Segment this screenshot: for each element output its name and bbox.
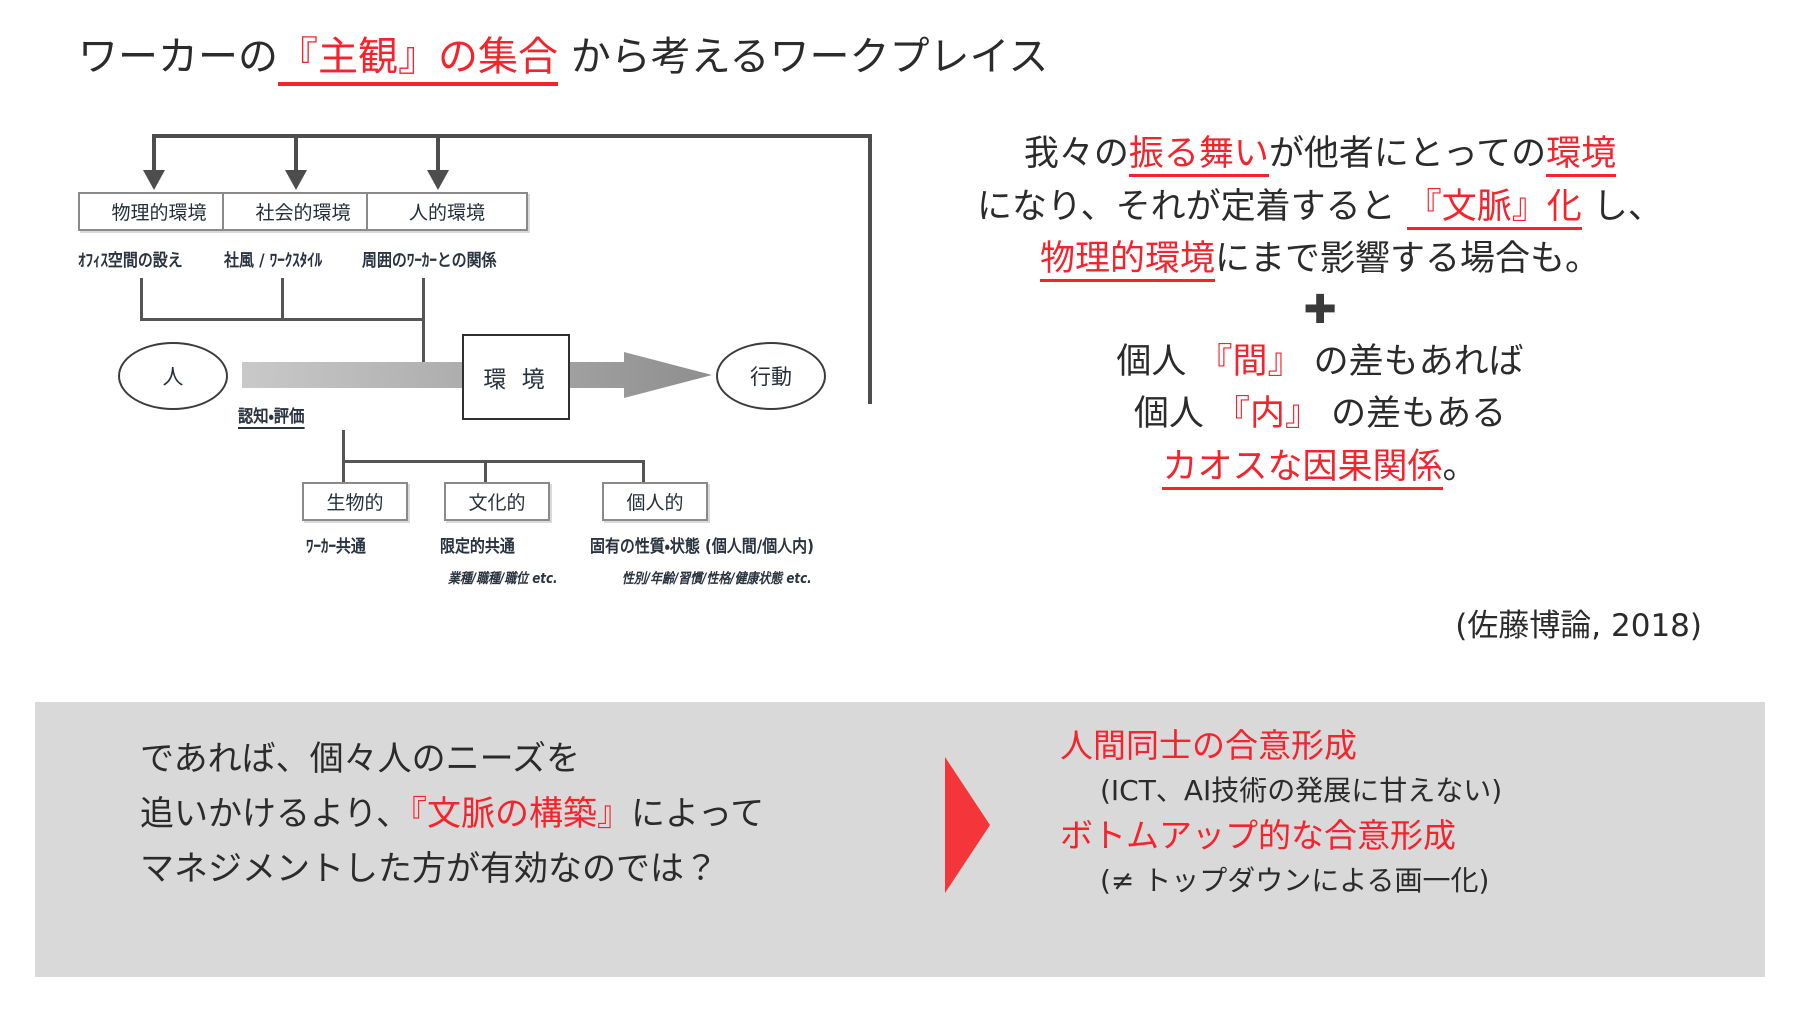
commentary-block: 我々の振る舞いが他者にとっての環境 になり、それが定着すると 『文脈』化 し、 … <box>880 128 1760 493</box>
bracket-rail-env <box>140 318 425 321</box>
commentary-line-5: 個人 『内』 の差もある <box>880 388 1760 441</box>
node-environment-label: 環 境 <box>483 360 548 394</box>
trait-box-biological-label: 生物的 <box>326 492 383 514</box>
trait-box-cultural-label: 文化的 <box>468 492 525 514</box>
commentary-l2-a: になり、それが定着すると <box>977 187 1407 227</box>
stem-physical <box>152 134 156 174</box>
bracket-stem-human <box>422 278 425 320</box>
commentary-l5-b: の差もある <box>1320 394 1506 434</box>
conclusion-line-2: 追いかけるより、『文脈の構築』によって <box>140 787 950 842</box>
commentary-l5-a: 個人 <box>1134 394 1215 434</box>
commentary-l1-highlight2: 環境 <box>1546 134 1616 177</box>
feedback-bus-top <box>152 134 872 138</box>
commentary-l4-b: の差もあれば <box>1303 342 1524 382</box>
cognition-label: 認知・評価 <box>238 402 304 429</box>
commentary-l6-b: 。 <box>1443 447 1478 487</box>
trait-box-biological[interactable]: 生物的 <box>302 482 408 521</box>
citation: (佐藤博論, 2018) <box>880 600 1760 645</box>
trait-sub-biological: ﾜｰｶｰ共通 <box>306 532 366 557</box>
trait-sub-personal: 固有の性質・状態 (個人間/個人内) <box>590 532 814 557</box>
answer-heading-2: ボトムアップ的な合意形成 <box>1060 812 1750 860</box>
env-box-physical-label: 物理的環境 <box>111 202 206 224</box>
stem-human <box>436 134 440 174</box>
answer-sub-2: (≠ トップダウンによる画一化) <box>1060 860 1750 902</box>
feedback-bus-right <box>868 134 872 404</box>
title-pre: ワーカーの <box>78 34 278 80</box>
node-behavior-label: 行動 <box>750 361 792 391</box>
commentary-l4-highlight: 『間』 <box>1197 342 1302 382</box>
causal-diagram: 物理的環境 社会的環境 人的環境 ｵﾌｨｽ空間の設え 社風 / ﾜｰｸｽﾀｲﾙ … <box>0 120 980 700</box>
node-environment[interactable]: 環 境 <box>462 334 570 420</box>
trait-box-personal-label: 個人的 <box>626 492 683 514</box>
trait-italic-cultural: 業種/職種/職位 etc. <box>448 568 558 588</box>
page-title: ワーカーの『主観』の集合 から考えるワークプレイス <box>78 32 1048 82</box>
commentary-l5-highlight: 『内』 <box>1215 394 1320 434</box>
commentary-line-4: 個人 『間』 の差もあれば <box>880 336 1760 389</box>
conclusion-line-1: であれば、個々人のニーズを <box>140 732 950 787</box>
commentary-l2-highlight: 『文脈』化 <box>1407 187 1582 230</box>
commentary-l6-highlight: カオスな因果関係 <box>1162 447 1442 490</box>
title-post: から考えるワークプレイス <box>558 34 1048 80</box>
arrowhead-physical-icon <box>143 170 165 190</box>
commentary-l1-b: が他者にとっての <box>1269 134 1546 174</box>
env-box-physical[interactable]: 物理的環境 <box>78 192 240 231</box>
commentary-l3-b: にまで影響する場合も。 <box>1215 239 1600 279</box>
env-box-social[interactable]: 社会的環境 <box>222 192 384 231</box>
answer-sub-1: (ICT、AI技術の発展に甘えない) <box>1060 770 1750 812</box>
bracket-stem-social <box>281 278 284 320</box>
env-box-social-label: 社会的環境 <box>255 202 350 224</box>
node-person-label: 人 <box>163 361 184 391</box>
node-behavior[interactable]: 行動 <box>716 342 826 410</box>
commentary-line-6: カオスな因果関係。 <box>880 441 1760 494</box>
env-sub-physical: ｵﾌｨｽ空間の設え <box>78 246 183 271</box>
red-arrow-icon <box>945 757 990 893</box>
trait-box-personal[interactable]: 個人的 <box>602 482 708 521</box>
conclusion-l2-b: によって <box>631 794 764 834</box>
env-sub-human: 周囲のﾜｰｶｰとの関係 <box>362 246 497 271</box>
conclusion-l2-highlight: 『文脈の構築』 <box>410 794 631 834</box>
env-sub-social: 社風 / ﾜｰｸｽﾀｲﾙ <box>224 246 322 271</box>
bracket-stem-physical <box>140 278 143 320</box>
commentary-l1-a: 我々の <box>1024 134 1129 174</box>
conclusion-question: であれば、個々人のニーズを 追いかけるより、『文脈の構築』によって マネジメント… <box>140 732 950 897</box>
conclusion-answers: 人間同士の合意形成 (ICT、AI技術の発展に甘えない) ボトムアップ的な合意形… <box>1060 722 1750 902</box>
commentary-l2-b: し、 <box>1582 187 1663 227</box>
commentary-line-1: 我々の振る舞いが他者にとっての環境 <box>880 128 1760 181</box>
commentary-l3-highlight: 物理的環境 <box>1040 239 1215 282</box>
conclusion-panel: であれば、個々人のニーズを 追いかけるより、『文脈の構築』によって マネジメント… <box>35 702 1765 977</box>
answer-heading-1: 人間同士の合意形成 <box>1060 722 1750 770</box>
commentary-line-2: になり、それが定着すると 『文脈』化 し、 <box>880 181 1760 234</box>
trait-sub-cultural: 限定的共通 <box>440 532 515 557</box>
trait-italic-personal: 性別/年齢/習慣/性格/健康状態 etc. <box>622 568 812 588</box>
conclusion-line-3: マネジメントした方が有効なのでは？ <box>140 842 950 897</box>
trait-bracket-rail <box>342 460 644 463</box>
stem-social <box>294 134 298 174</box>
plus-symbol-icon: ✚ <box>880 290 1760 330</box>
env-box-human[interactable]: 人的環境 <box>366 192 528 231</box>
arrowhead-human-icon <box>427 170 449 190</box>
commentary-l1-highlight: 振る舞い <box>1129 134 1269 177</box>
env-box-human-label: 人的環境 <box>409 202 485 224</box>
commentary-l4-a: 個人 <box>1116 342 1197 382</box>
arrowhead-social-icon <box>285 170 307 190</box>
conclusion-l2-a: 追いかけるより、 <box>140 794 410 834</box>
commentary-line-3: 物理的環境にまで影響する場合も。 <box>880 233 1760 286</box>
node-person[interactable]: 人 <box>118 342 228 410</box>
title-highlight: 『主観』の集合 <box>278 34 558 86</box>
trait-box-cultural[interactable]: 文化的 <box>444 482 550 521</box>
